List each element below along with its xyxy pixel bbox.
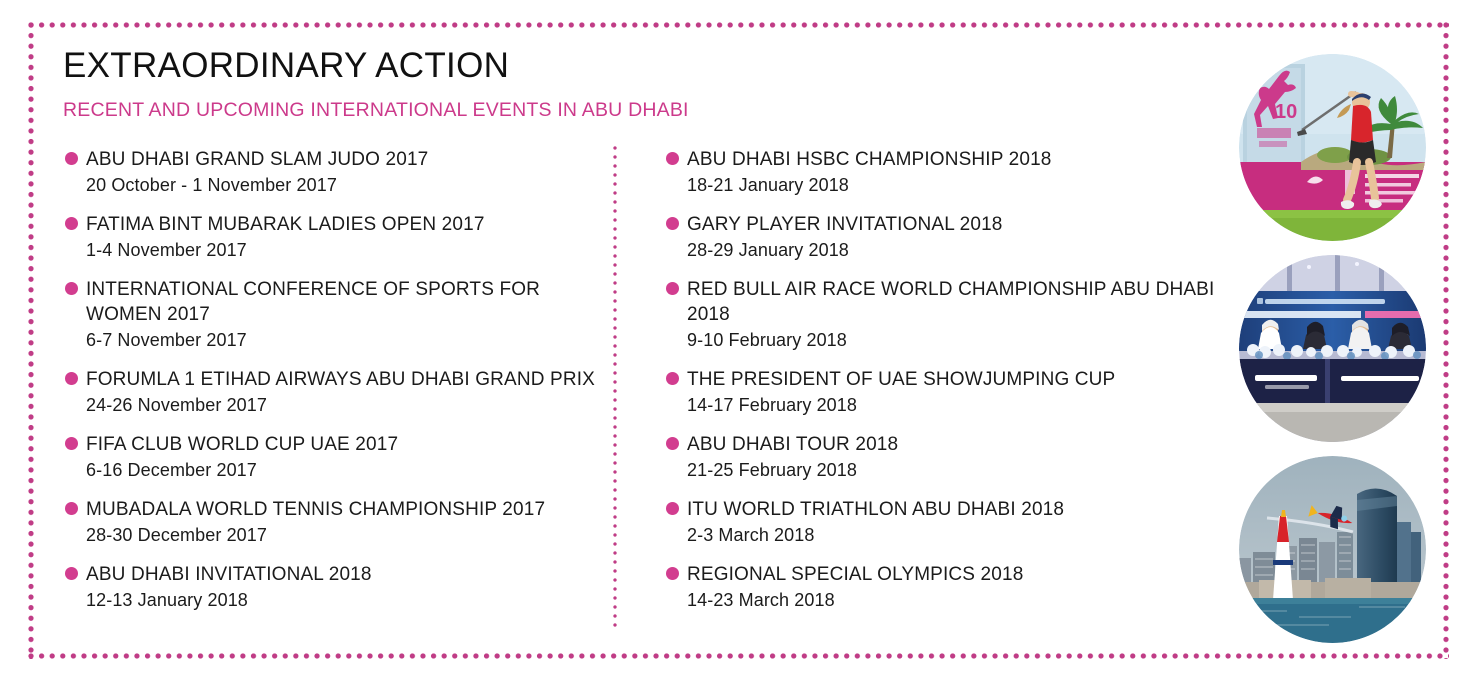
poster-page: EXTRAORDINARY ACTION RECENT AND UPCOMING… — [0, 0, 1477, 697]
event-item[interactable]: GARY PLAYER INVITATIONAL 2018 28-29 Janu… — [664, 212, 1224, 263]
event-name: ABU DHABI TOUR 2018 — [687, 432, 1224, 457]
event-name: INTERNATIONAL CONFERENCE OF SPORTS FOR W… — [86, 277, 608, 327]
event-date: 14-17 February 2018 — [687, 392, 1224, 418]
events-column-right: ABU DHABI HSBC CHAMPIONSHIP 2018 18-21 J… — [664, 147, 1224, 627]
bullet-icon — [65, 567, 78, 580]
event-date: 28-29 January 2018 — [687, 237, 1224, 263]
event-date: 20 October - 1 November 2017 — [86, 172, 608, 198]
event-name: THE PRESIDENT OF UAE SHOWJUMPING CUP — [687, 367, 1224, 392]
event-date: 6-16 December 2017 — [86, 457, 608, 483]
events-column-left: ABU DHABI GRAND SLAM JUDO 2017 20 Octobe… — [63, 147, 608, 627]
bullet-icon — [666, 567, 679, 580]
bullet-icon — [65, 282, 78, 295]
photo-strip: 10 — [1239, 52, 1477, 652]
svg-text:10: 10 — [1275, 101, 1297, 123]
bullet-icon — [65, 437, 78, 450]
bullet-icon — [65, 502, 78, 515]
event-name: ABU DHABI INVITATIONAL 2018 — [86, 562, 608, 587]
bullet-icon — [666, 372, 679, 385]
bullet-icon — [666, 282, 679, 295]
event-item[interactable]: ABU DHABI GRAND SLAM JUDO 2017 20 Octobe… — [63, 147, 608, 198]
photo-red-bull-air-race — [1239, 456, 1426, 643]
photo-golfer-teeing-off: 10 — [1239, 54, 1426, 241]
event-item[interactable]: THE PRESIDENT OF UAE SHOWJUMPING CUP 14-… — [664, 367, 1224, 418]
event-name: FORUMLA 1 ETIHAD AIRWAYS ABU DHABI GRAND… — [86, 367, 608, 392]
frame-top-edge — [28, 22, 1449, 28]
event-date: 12-13 January 2018 — [86, 587, 608, 613]
event-name: MUBADALA WORLD TENNIS CHAMPIONSHIP 2017 — [86, 497, 608, 522]
event-date: 24-26 November 2017 — [86, 392, 608, 418]
event-name: FIFA CLUB WORLD CUP UAE 2017 — [86, 432, 608, 457]
event-name: RED BULL AIR RACE WORLD CHAMPIONSHIP ABU… — [687, 277, 1224, 327]
bullet-icon — [666, 437, 679, 450]
event-date: 18-21 January 2018 — [687, 172, 1224, 198]
header-block: EXTRAORDINARY ACTION RECENT AND UPCOMING… — [63, 46, 1163, 122]
frame-left-edge — [28, 22, 34, 659]
event-item[interactable]: MUBADALA WORLD TENNIS CHAMPIONSHIP 2017 … — [63, 497, 608, 548]
frame-bottom-edge — [28, 653, 1449, 659]
event-item[interactable]: FIFA CLUB WORLD CUP UAE 2017 6-16 Decemb… — [63, 432, 608, 483]
event-item[interactable]: ABU DHABI TOUR 2018 21-25 February 2018 — [664, 432, 1224, 483]
page-subtitle: RECENT AND UPCOMING INTERNATIONAL EVENTS… — [63, 98, 1163, 122]
event-date: 21-25 February 2018 — [687, 457, 1224, 483]
bullet-icon — [65, 152, 78, 165]
event-item[interactable]: FATIMA BINT MUBARAK LADIES OPEN 2017 1-4… — [63, 212, 608, 263]
page-title: EXTRAORDINARY ACTION — [63, 46, 1163, 86]
event-date: 14-23 March 2018 — [687, 587, 1224, 613]
event-date: 9-10 February 2018 — [687, 327, 1224, 353]
event-name: GARY PLAYER INVITATIONAL 2018 — [687, 212, 1224, 237]
event-name: ABU DHABI GRAND SLAM JUDO 2017 — [86, 147, 608, 172]
bullet-icon — [65, 217, 78, 230]
event-item[interactable]: ABU DHABI INVITATIONAL 2018 12-13 Januar… — [63, 562, 608, 613]
event-item[interactable]: ABU DHABI HSBC CHAMPIONSHIP 2018 18-21 J… — [664, 147, 1224, 198]
photo-conference-panel — [1239, 255, 1426, 442]
event-item[interactable]: REGIONAL SPECIAL OLYMPICS 2018 14-23 Mar… — [664, 562, 1224, 613]
event-item[interactable]: RED BULL AIR RACE WORLD CHAMPIONSHIP ABU… — [664, 277, 1224, 353]
event-name: REGIONAL SPECIAL OLYMPICS 2018 — [687, 562, 1224, 587]
event-item[interactable]: INTERNATIONAL CONFERENCE OF SPORTS FOR W… — [63, 277, 608, 353]
bullet-icon — [65, 372, 78, 385]
event-name: ABU DHABI HSBC CHAMPIONSHIP 2018 — [687, 147, 1224, 172]
events-columns: ABU DHABI GRAND SLAM JUDO 2017 20 Octobe… — [63, 147, 1223, 637]
event-item[interactable]: FORUMLA 1 ETIHAD AIRWAYS ABU DHABI GRAND… — [63, 367, 608, 418]
event-date: 6-7 November 2017 — [86, 327, 608, 353]
event-date: 2-3 March 2018 — [687, 522, 1224, 548]
event-date: 28-30 December 2017 — [86, 522, 608, 548]
event-name: FATIMA BINT MUBARAK LADIES OPEN 2017 — [86, 212, 608, 237]
event-item[interactable]: ITU WORLD TRIATHLON ABU DHABI 2018 2-3 M… — [664, 497, 1224, 548]
bullet-icon — [666, 152, 679, 165]
event-date: 1-4 November 2017 — [86, 237, 608, 263]
bullet-icon — [666, 217, 679, 230]
event-name: ITU WORLD TRIATHLON ABU DHABI 2018 — [687, 497, 1224, 522]
bullet-icon — [666, 502, 679, 515]
